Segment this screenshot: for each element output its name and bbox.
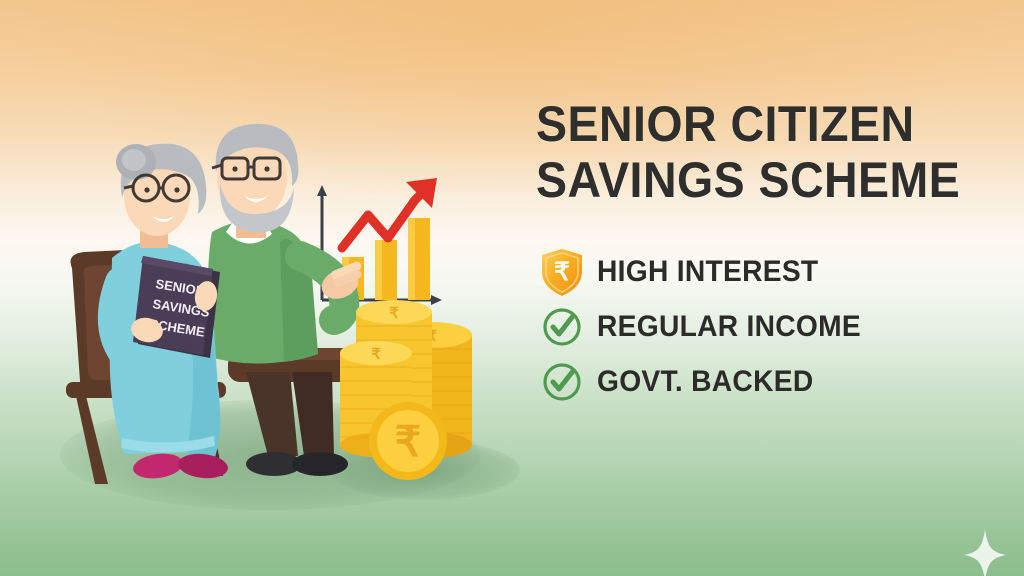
- benefit-label-high-interest: HIGH INTEREST: [597, 256, 818, 288]
- woman-shoe-right: [177, 451, 229, 480]
- front-rupee-coin: ₹: [369, 402, 447, 480]
- benefits-list: ₹ HIGH INTEREST REGULAR INCOME: [536, 246, 1006, 408]
- woman-shoe-left: [132, 451, 185, 482]
- benefit-label-govt-backed: GOVT. BACKED: [597, 366, 813, 398]
- man-leg-left: [246, 372, 298, 456]
- coin-stacks-graphic: ₹ ₹: [340, 300, 472, 480]
- woman-figure: SENIOR SAVINGS SCHEME: [110, 144, 229, 482]
- woman-eye-right: [174, 187, 179, 192]
- benefit-item-high-interest: ₹ HIGH INTEREST: [536, 246, 1006, 298]
- shield-rupee-icon: ₹: [536, 246, 588, 298]
- chart-bar-2-highlight: [375, 240, 382, 300]
- chart-y-axis-arrowhead: [317, 185, 327, 196]
- svg-text:₹: ₹: [554, 258, 570, 286]
- woman-eye-left: [144, 187, 149, 192]
- check-circle-icon: [536, 356, 588, 408]
- poster-canvas: SENIOR SAVINGS SCHEME: [0, 0, 1024, 576]
- man-figure: [206, 124, 363, 476]
- man-eye-left: [232, 166, 237, 171]
- sparkle-icon: [963, 530, 1007, 576]
- text-content-column: SENIOR CITIZEN SAVINGS SCHEME: [536, 96, 1006, 411]
- man-leg-right: [292, 372, 334, 456]
- woman-head: [116, 144, 206, 248]
- svg-text:₹: ₹: [389, 305, 399, 322]
- check-circle-icon: [536, 301, 588, 353]
- woman-hair-bun-inner: [122, 149, 146, 171]
- headline-line-2: SAVINGS SCHEME: [536, 152, 973, 208]
- svg-text:₹: ₹: [371, 346, 381, 363]
- front-coin-rupee-symbol: ₹: [395, 418, 422, 465]
- man-shoe-right: [292, 452, 348, 476]
- man-eye-right: [264, 166, 269, 171]
- chart-x-axis-arrowhead: [431, 295, 442, 305]
- headline-line-1: SENIOR CITIZEN: [536, 96, 973, 152]
- benefit-label-regular-income: REGULAR INCOME: [597, 311, 861, 343]
- benefit-item-govt-backed: GOVT. BACKED: [536, 356, 1006, 408]
- benefit-item-regular-income: REGULAR INCOME: [536, 301, 1006, 353]
- chair-front-leg-left: [76, 396, 108, 484]
- man-head: [212, 124, 298, 238]
- chart-bar-3-highlight: [408, 218, 415, 300]
